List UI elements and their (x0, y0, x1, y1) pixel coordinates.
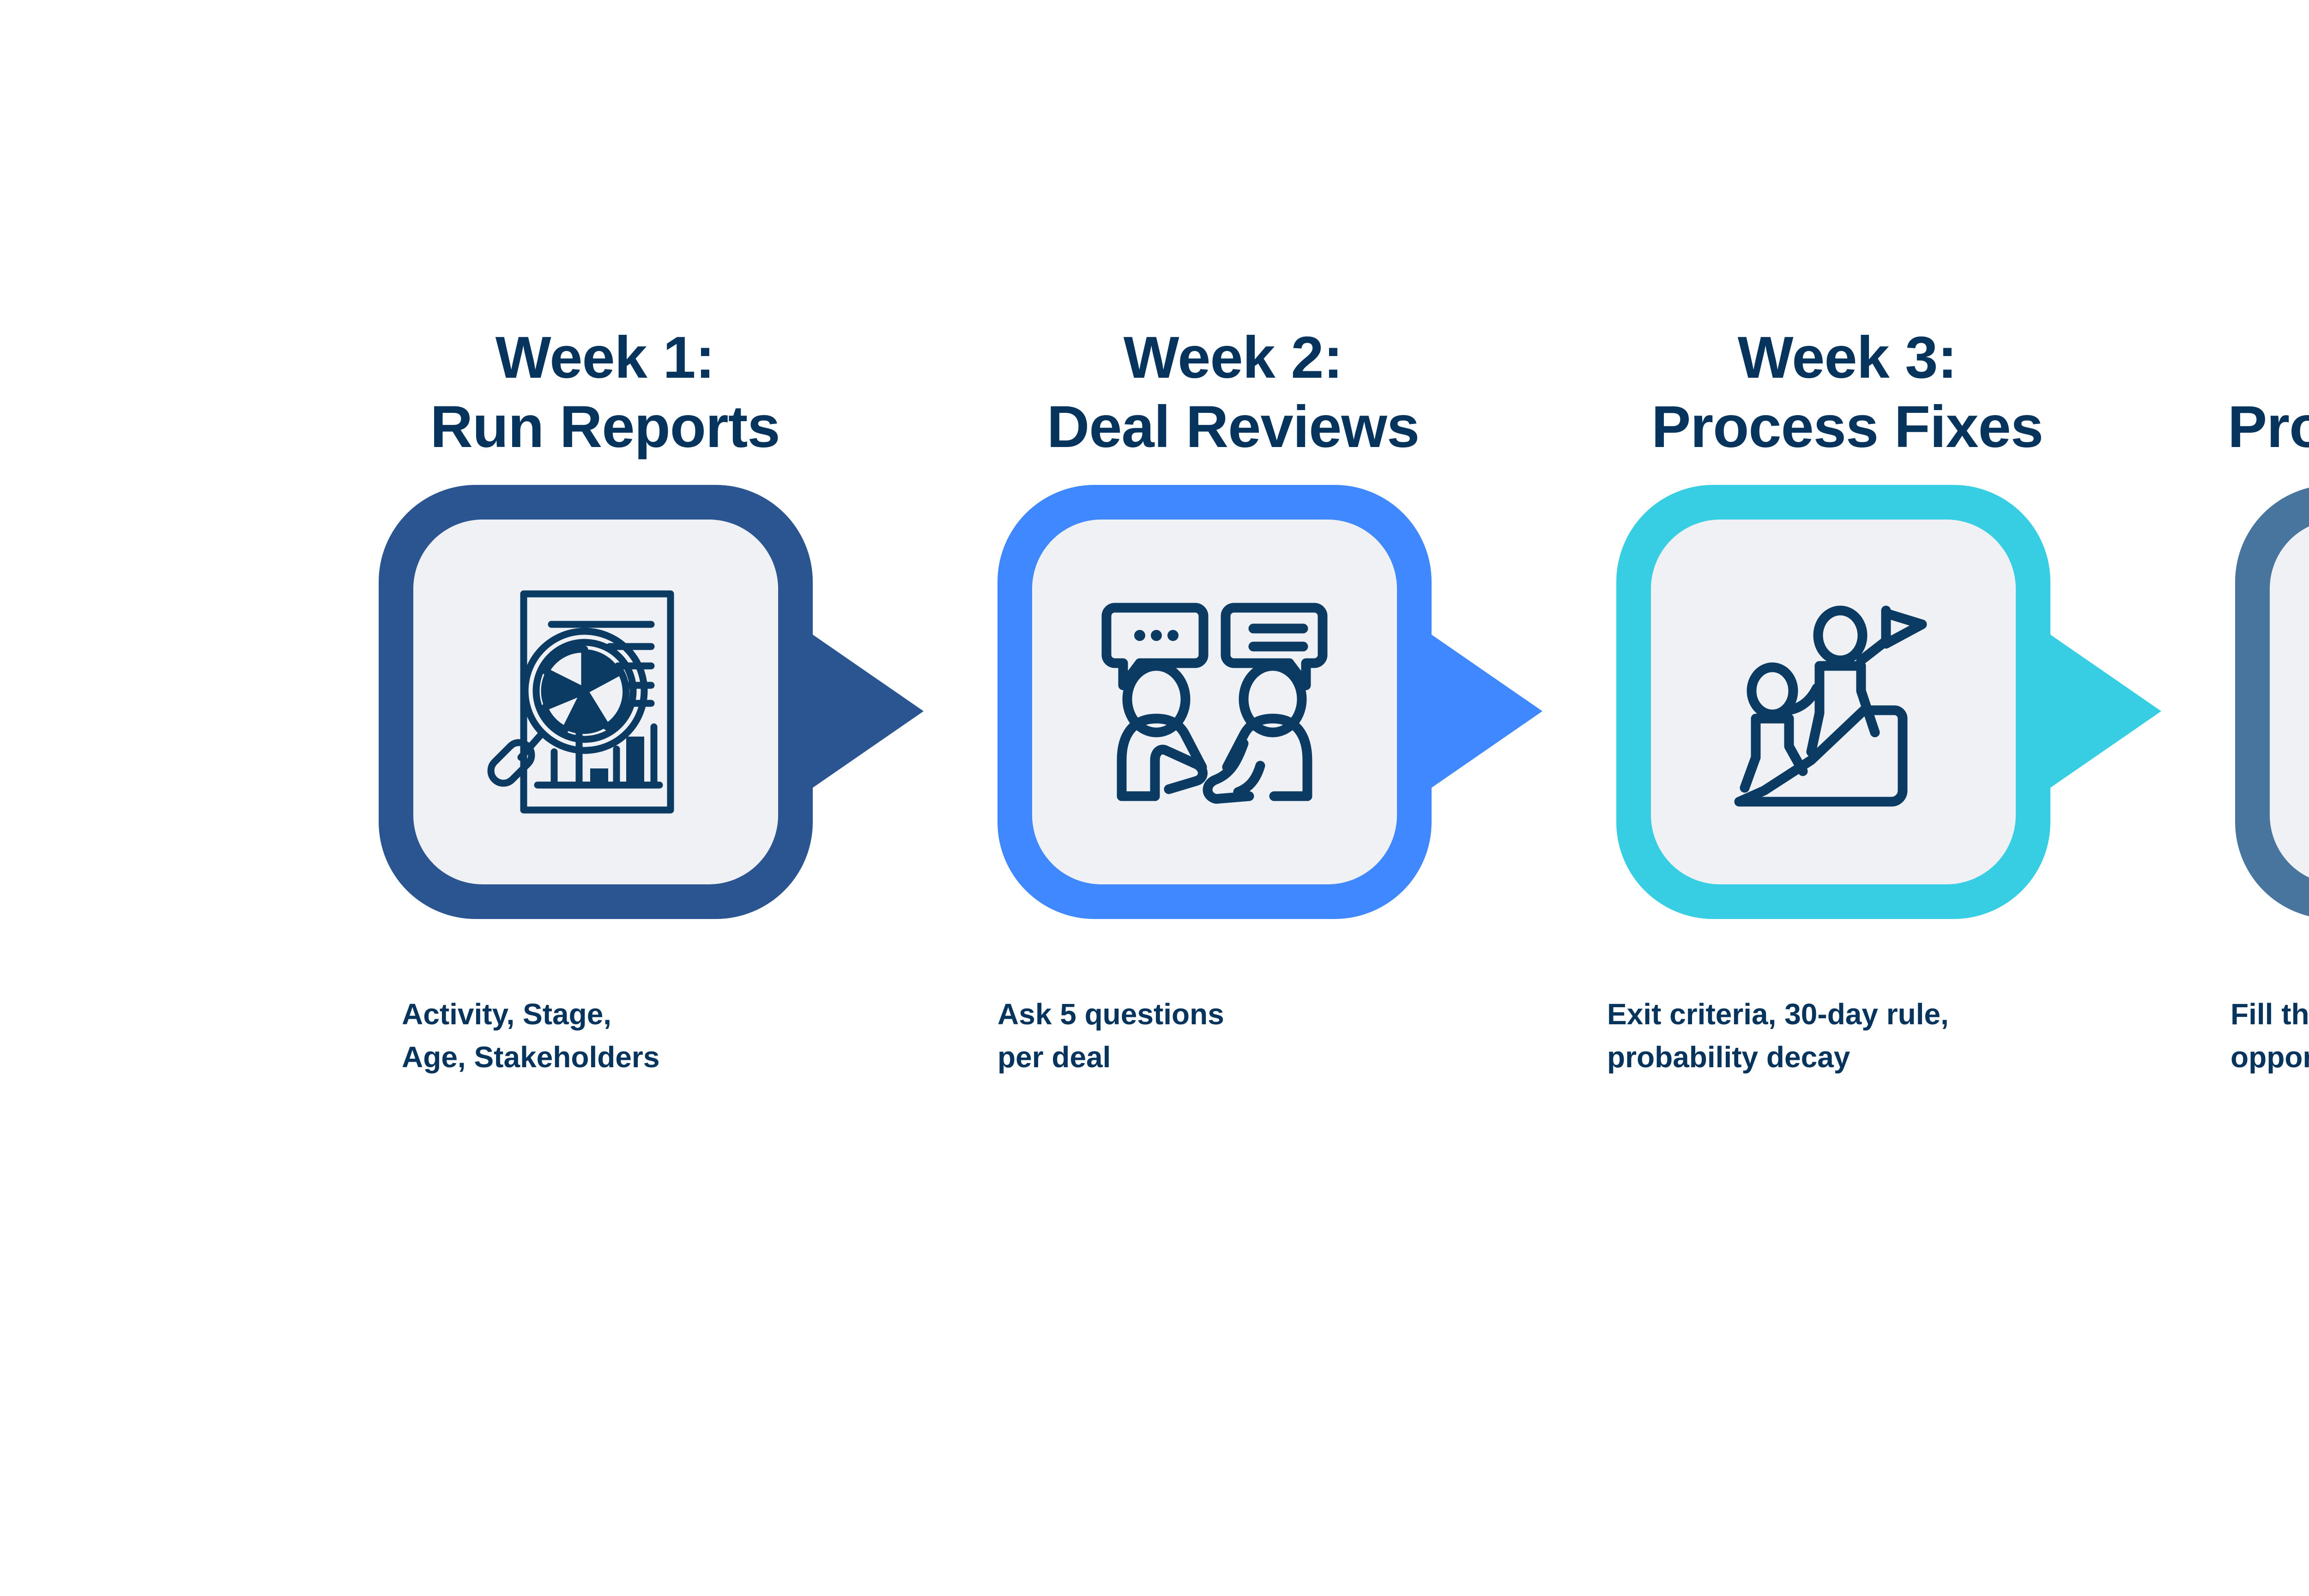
icon-tile (2235, 485, 2309, 919)
process-step-week-1: Week 1: Run Reports (351, 323, 970, 1079)
icon-tile-inner (1032, 520, 1397, 884)
step-heading: Week 4: Prospecting Push (2221, 323, 2309, 462)
process-step-week-2: Week 2: Deal Reviews (970, 323, 1589, 1079)
climbing-help-flag-icon (1695, 563, 1972, 840)
step-icon-tile-wrapper (997, 485, 1459, 937)
infographic-board: Week 1: Run Reports (0, 0, 2309, 1596)
icon-tile (1616, 485, 2050, 919)
step-caption: Ask 5 questions per deal (997, 993, 1533, 1079)
step-heading: Week 2: Deal Reviews (979, 323, 1487, 462)
step-heading: Week 1: Run Reports (351, 323, 859, 462)
step-icon-tile-wrapper (379, 485, 840, 937)
step-heading: Week 3: Process Fixes (1593, 323, 2101, 462)
step-caption: Exit criteria, 30-day rule, probability … (1607, 993, 2143, 1079)
step-icon-tile-wrapper (2235, 485, 2309, 937)
icon-tile-inner (413, 520, 778, 884)
process-steps: Week 1: Run Reports (351, 323, 2309, 1079)
step-caption: Activity, Stage, Age, Stakeholders (402, 993, 864, 1079)
icon-tile-inner (1651, 520, 2016, 884)
step-icon-tile-wrapper (1616, 485, 2078, 937)
two-people-conversation-icon (1076, 563, 1353, 840)
process-step-week-4: Week 4: Prospecting Push (2207, 323, 2309, 1079)
step-caption: Fill the gap with new opportunities (2230, 993, 2309, 1079)
icon-tile (997, 485, 1432, 919)
process-step-week-3: Week 3: Process Fixes (1589, 323, 2207, 1079)
report-magnifier-icon (457, 563, 734, 840)
icon-tile (379, 485, 813, 919)
icon-tile-inner (2270, 520, 2309, 884)
